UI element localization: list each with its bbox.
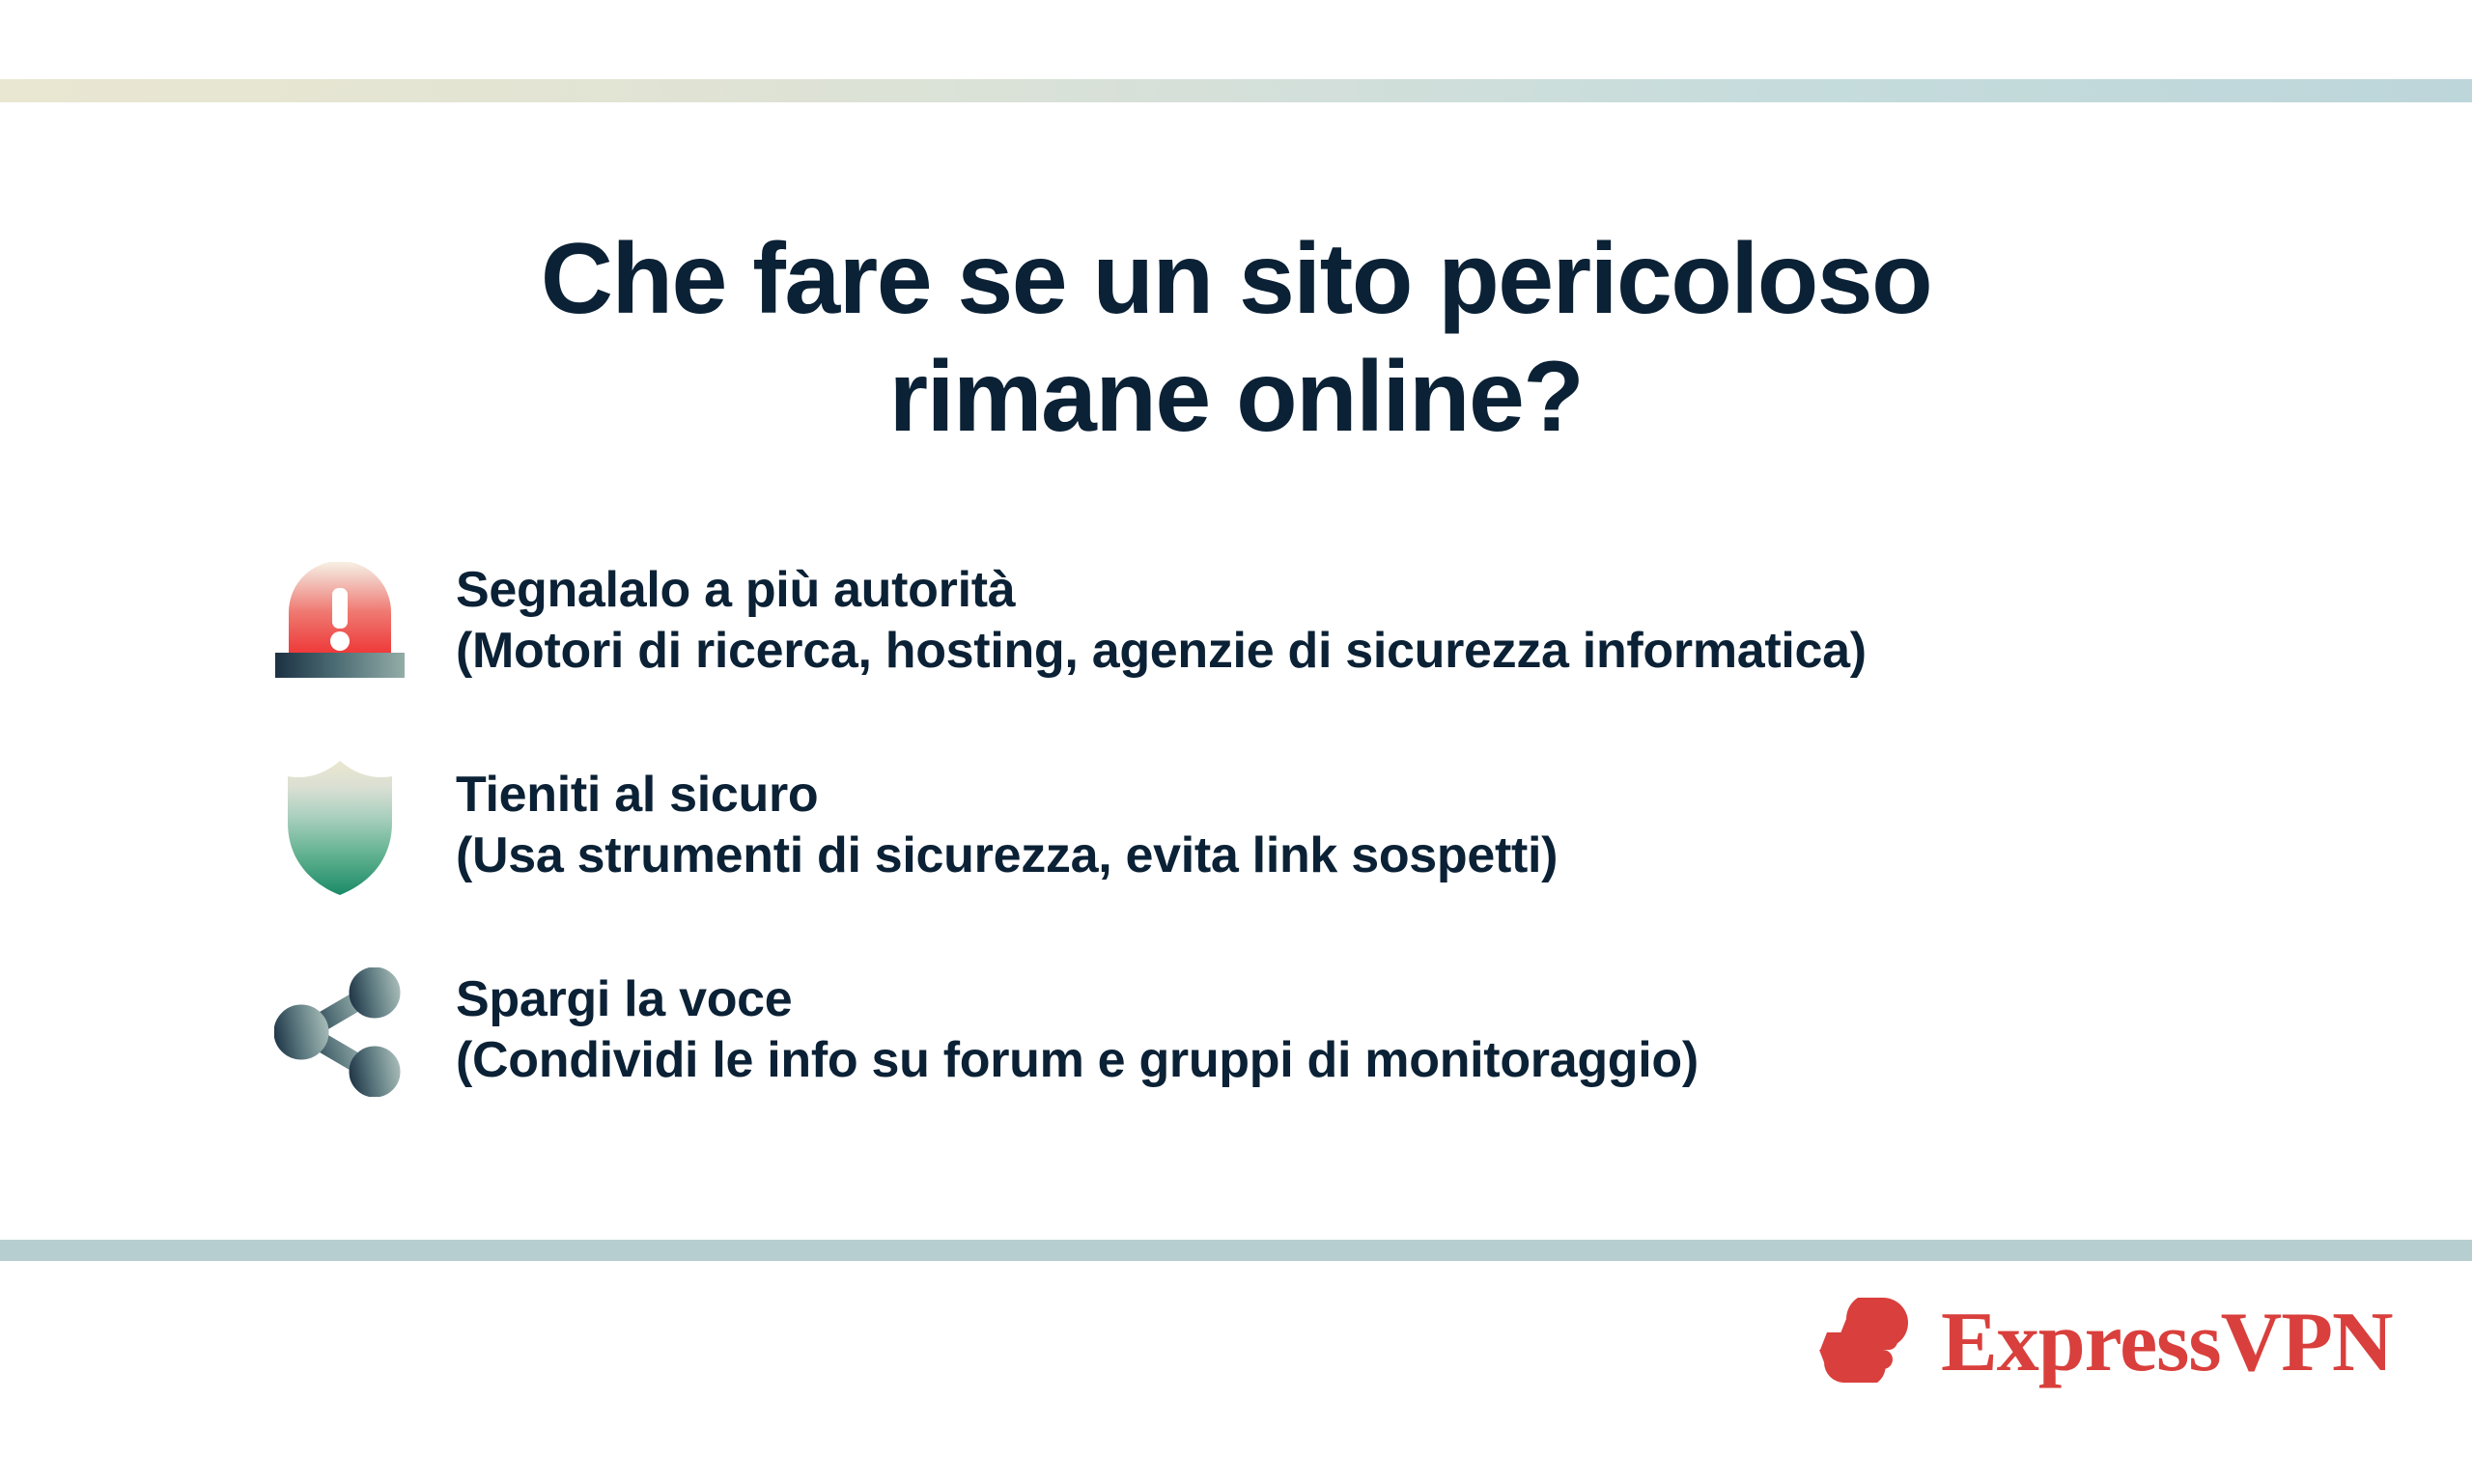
expressvpn-wordmark: ExpressVPN <box>1941 1301 2393 1386</box>
bottom-divider-rule <box>0 1240 2472 1261</box>
page-title-line-1: Che fare se un sito pericoloso <box>290 220 2182 339</box>
expressvpn-logo: ExpressVPN <box>1815 1290 2393 1395</box>
top-divider-rule <box>0 79 2472 102</box>
list-item-detail: (Motori di ricerca, hosting, agenzie di … <box>456 621 1867 682</box>
list-item: Tieniti al sicuro (Usa strumenti di sicu… <box>253 755 2281 900</box>
shield-icon <box>253 755 427 900</box>
infographic-slide: Che fare se un sito pericoloso rimane on… <box>0 0 2472 1484</box>
list-item-text: Segnalalo a più autorità (Motori di rice… <box>456 550 1867 683</box>
list-item: Spargi la voce (Condividi le info su for… <box>253 960 2281 1105</box>
list-item-detail: (Usa strumenti di sicurezza, evita link … <box>456 826 1558 886</box>
list-item-text: Spargi la voce (Condividi le info su for… <box>456 960 1699 1092</box>
alarm-siren-icon <box>253 550 427 695</box>
list-item-detail: (Condividi le info su forum e gruppi di … <box>456 1030 1699 1091</box>
list-item-text: Tieniti al sicuro (Usa strumenti di sicu… <box>456 755 1558 887</box>
list-item: Segnalalo a più autorità (Motori di rice… <box>253 550 2281 695</box>
share-nodes-icon <box>253 960 427 1105</box>
list-item-title: Segnalalo a più autorità <box>456 560 1867 621</box>
page-title-line-2: rimane online? <box>290 338 2182 457</box>
expressvpn-e-icon <box>1815 1290 1916 1395</box>
tips-list: Segnalalo a più autorità (Motori di rice… <box>253 550 2281 1105</box>
page-title: Che fare se un sito pericoloso rimane on… <box>0 220 2472 457</box>
list-item-title: Spargi la voce <box>456 969 1699 1030</box>
list-item-title: Tieniti al sicuro <box>456 765 1558 826</box>
